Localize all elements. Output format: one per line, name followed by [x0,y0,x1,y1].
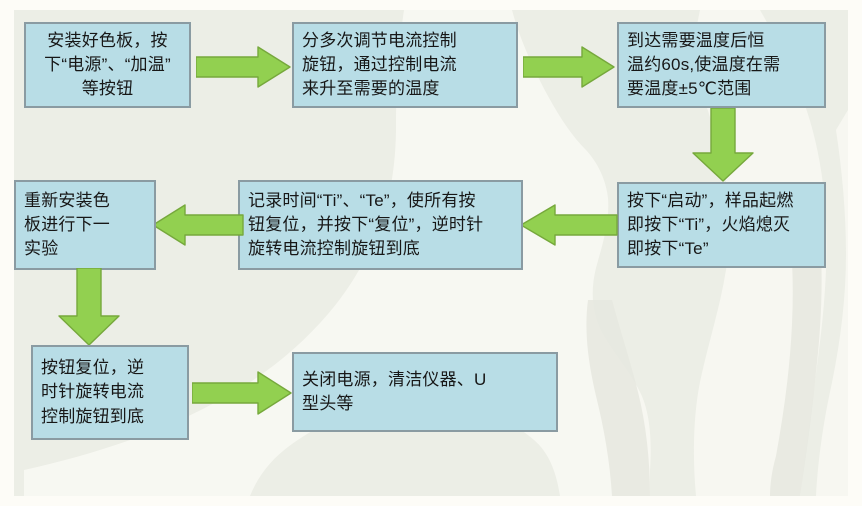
node-label: 安装好色板，按 下“电源”、“加温” 等按钮 [34,29,181,101]
node-label: 到达需要温度后恒 温约60s,使温度在需 要温度±5℃范围 [627,29,816,101]
node-label: 按下“启动”，样品起燃 即按下“Ti”，火焰熄灭 即按下“Te” [627,189,816,261]
flowchart-slide: 安装好色板，按 下“电源”、“加温” 等按钮 分多次调节电流控制 旋钮，通过控制… [0,0,862,506]
node-label: 按钮复位，逆 时针旋转电流 控制旋钮到底 [41,356,179,428]
node-step-shutdown-clean[interactable]: 关闭电源，清洁仪器、U 型头等 [292,352,558,432]
node-label: 记录时间“Ti”、“Te”，使所有按 钮复位，并按下“复位”，逆时针 旋转电流控… [248,189,513,261]
node-label: 分多次调节电流控制 旋钮，通过控制电流 来升至需要的温度 [302,29,508,101]
node-label: 重新安装色 板进行下一 实验 [24,189,146,261]
node-step-install-panel[interactable]: 安装好色板，按 下“电源”、“加温” 等按钮 [24,22,191,108]
node-step-start-and-record[interactable]: 按下“启动”，样品起燃 即按下“Ti”，火焰熄灭 即按下“Te” [617,182,826,268]
node-step-hold-temperature[interactable]: 到达需要温度后恒 温约60s,使温度在需 要温度±5℃范围 [617,22,826,108]
node-step-reset-knob[interactable]: 按钮复位，逆 时针旋转电流 控制旋钮到底 [31,345,189,440]
node-label: 关闭电源，清洁仪器、U 型头等 [302,368,548,416]
node-step-reinstall-panel[interactable]: 重新安装色 板进行下一 实验 [14,180,156,270]
node-step-adjust-current[interactable]: 分多次调节电流控制 旋钮，通过控制电流 来升至需要的温度 [292,22,518,108]
node-step-record-times-reset[interactable]: 记录时间“Ti”、“Te”，使所有按 钮复位，并按下“复位”，逆时针 旋转电流控… [238,180,523,270]
